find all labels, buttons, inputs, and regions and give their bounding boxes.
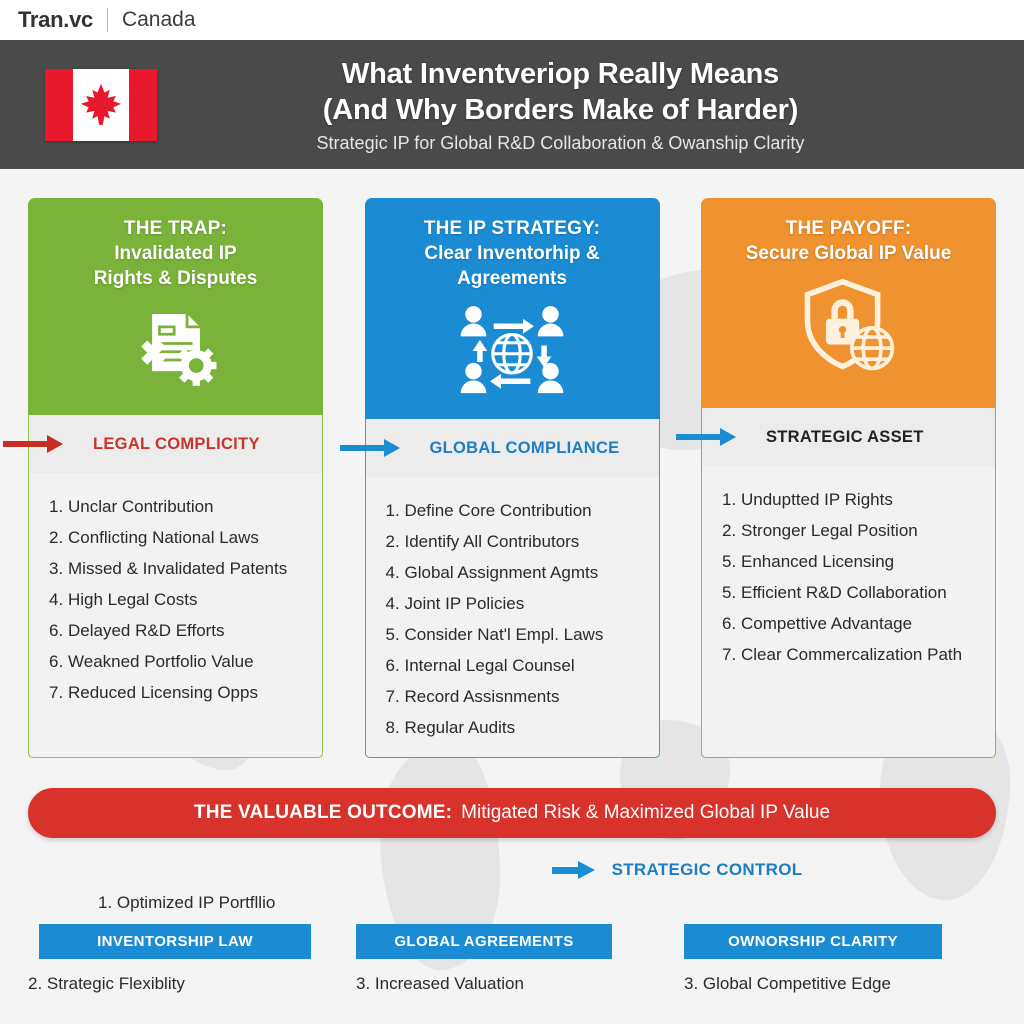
list-item: 6.Weakned Portfolio Value [49,646,310,677]
list-item-number: 2. [386,526,405,557]
card-subtitle-line2: Agreements [457,266,567,291]
list-item-number: 6. [49,646,68,677]
list-item-number: 1. [722,484,741,515]
list-item: 1.Unduptted IP Rights [722,484,983,515]
list-item-label: Clear Commercalization Path [741,645,962,664]
list-item: 1.Define Core Contribution [386,495,647,526]
list-item-label: High Legal Costs [68,590,197,609]
list-item: 7.Reduced Licensing Opps [49,677,310,708]
list-item-label: Define Core Contribution [405,501,592,520]
list-item-label: Conflicting National Laws [68,528,259,547]
card-eyebrow: THE TRAP: [124,216,227,241]
list-item-number: 3. [49,553,68,584]
list-item-label: Reduced Licensing Opps [68,683,258,702]
list-item-label: Compettive Advantage [741,614,912,633]
card-subtitle-line1: Invalidated IP [114,241,236,266]
list-item-number: 6. [386,650,405,681]
list-item-label: Unclar Contribution [68,497,214,516]
list-item: 8.Regular Audits [386,712,647,743]
list-item-number: 7. [722,639,741,670]
outcome-banner: THE VALUABLE OUTCOME: Mitigated Risk & M… [28,788,996,838]
list-item-label: Identify All Contributors [405,532,580,551]
right-arrow-icon [676,430,744,444]
bottom-bottom-item: 3. Increased Valuation [356,969,651,999]
list-item-label: Enhanced Licensing [741,552,894,571]
outcome-banner-rest: Mitigated Risk & Maximized Global IP Val… [461,802,830,824]
list-item-number: 1. [49,491,68,522]
card-header-payoff: THE PAYOFF: Secure Global IP Value [701,198,996,408]
arrow-row-ip-strategy: GLOBAL COMPLIANCE [366,419,659,477]
bottom-column-global-agreements: GLOBAL AGREEMENTS 3. Increased Valuation [356,888,651,999]
card-the-trap: THE TRAP: Invalidated IP Rights & Disput… [28,198,323,758]
list-item: 4.Joint IP Policies [386,588,647,619]
outcome-banner-strong: THE VALUABLE OUTCOME: [194,802,452,824]
card-body-trap: LEGAL COMPLICITY 1.Unclar Contribution 2… [28,415,323,758]
list-item-number: 5. [386,619,405,650]
list-item-number: 8. [386,712,405,743]
list-item-number: 1. [386,495,405,526]
document-error-gear-icon [130,303,222,395]
list-item-number: 7. [49,677,68,708]
list-item: 1.Unclar Contribution [49,491,310,522]
list-item: 3.Missed & Invalidated Patents [49,553,310,584]
brand-divider [107,8,108,32]
list-item-label: Unduptted IP Rights [741,490,893,509]
list-payoff: 1.Unduptted IP Rights 2.Stronger Legal P… [702,466,995,670]
bottom-column-inventorship-law: 1. Optimized IP Portfllio INVENTORSHIP L… [28,888,323,999]
card-eyebrow: THE PAYOFF: [786,216,912,241]
pill-inventorship-law[interactable]: INVENTORSHIP LAW [39,924,311,959]
card-subtitle-line1: Secure Global IP Value [746,241,952,266]
list-item: 2.Stronger Legal Position [722,515,983,546]
three-column-section: THE TRAP: Invalidated IP Rights & Disput… [0,169,1024,758]
card-body-payoff: STRATEGIC ASSET 1.Unduptted IP Rights 2.… [701,408,996,758]
list-item-label: Regular Audits [405,718,516,737]
page-header: What Inventveriop Really Means (And Why … [0,40,1024,169]
bottom-section: STRATEGIC CONTROL 1. Optimized IP Portfl… [0,860,1024,999]
list-item-number: 5. [722,577,741,608]
list-item: 4.Global Assignment Agmts [386,557,647,588]
list-item-label: Weakned Portfolio Value [68,652,254,671]
list-item: 7.Clear Commercalization Path [722,639,983,670]
list-item: 4.High Legal Costs [49,584,310,615]
bottom-top-spacer [684,888,979,918]
list-item-number: 2. [49,522,68,553]
list-item-label: Internal Legal Counsel [405,656,575,675]
list-item-label: Delayed R&D Efforts [68,621,225,640]
strategic-control-row: STRATEGIC CONTROL [28,860,996,880]
card-the-payoff: THE PAYOFF: Secure Global IP Value [701,198,996,758]
strategic-control-label: STRATEGIC CONTROL [612,860,803,880]
bottom-top-item: 1. Optimized IP Portfllio [28,888,323,918]
list-ip-strategy: 1.Define Core Contribution 2.Identify Al… [366,477,659,743]
arrow-label-trap: LEGAL COMPLICITY [93,435,260,454]
list-item-number: 4. [386,588,405,619]
global-collaboration-network-icon [457,303,567,399]
arrow-row-trap: LEGAL COMPLICITY [29,415,322,473]
list-item-number: 4. [49,584,68,615]
arrow-label-ip-strategy: GLOBAL COMPLIANCE [430,439,620,458]
list-item-label: Consider Nat'l Empl. Laws [405,625,604,644]
list-item: 6.Delayed R&D Efforts [49,615,310,646]
list-trap: 1.Unclar Contribution 2.Conflicting Nati… [29,473,322,708]
card-subtitle-line2: Rights & Disputes [94,266,258,291]
list-item-label: Stronger Legal Position [741,521,918,540]
card-body-ip-strategy: GLOBAL COMPLIANCE 1.Define Core Contribu… [365,419,660,758]
list-item-number: 7. [386,681,405,712]
page-title-line2: (And Why Borders Make of Harder) [157,92,964,128]
list-item: 6.Internal Legal Counsel [386,650,647,681]
list-item: 5.Efficient R&D Collaboration [722,577,983,608]
list-item-label: Global Assignment Agmts [405,563,599,582]
canada-flag-icon [45,69,157,141]
right-arrow-icon [3,437,71,451]
list-item: 5.Consider Nat'l Empl. Laws [386,619,647,650]
list-item-label: Missed & Invalidated Patents [68,559,287,578]
list-item-label: Record Assisnments [405,687,560,706]
pill-global-agreements[interactable]: GLOBAL AGREEMENTS [356,924,612,959]
brand-region: Canada [122,8,196,32]
infographic-page: Tran.vc Canada What Inventveriop Really … [0,0,1024,1024]
card-header-ip-strategy: THE IP STRATEGY: Clear Inventorhip & Agr… [365,198,660,419]
list-item-number: 4. [386,557,405,588]
brand-logo: Tran.vc [18,7,93,33]
list-item: 6.Compettive Advantage [722,608,983,639]
page-subtitle: Strategic IP for Global R&D Collaboratio… [157,133,964,154]
card-header-trap: THE TRAP: Invalidated IP Rights & Disput… [28,198,323,415]
arrow-row-payoff: STRATEGIC ASSET [702,408,995,466]
bottom-top-spacer [356,888,651,918]
list-item: 7.Record Assisnments [386,681,647,712]
page-title-line1: What Inventveriop Really Means [157,56,964,92]
right-arrow-icon [340,441,408,455]
bottom-column-ownership-clarity: OWNORSHIP CLARITY 3. Global Competitive … [684,888,979,999]
brand-bar: Tran.vc Canada [0,0,1024,40]
shield-lock-globe-icon [797,278,901,374]
list-item: 2.Identify All Contributors [386,526,647,557]
bottom-bottom-item: 2. Strategic Flexiblity [28,969,323,999]
list-item-number: 6. [49,615,68,646]
header-text-block: What Inventveriop Really Means (And Why … [157,56,1024,154]
list-item-label: Joint IP Policies [405,594,525,613]
card-subtitle-line1: Clear Inventorhip & [424,241,599,266]
arrow-label-payoff: STRATEGIC ASSET [766,428,924,447]
list-item-number: 5. [722,546,741,577]
bottom-bottom-item: 3. Global Competitive Edge [684,969,979,999]
list-item-label: Efficient R&D Collaboration [741,583,947,602]
pill-ownership-clarity[interactable]: OWNORSHIP CLARITY [684,924,942,959]
outcome-banner-wrap: THE VALUABLE OUTCOME: Mitigated Risk & M… [0,758,1024,838]
bottom-grid: 1. Optimized IP Portfllio INVENTORSHIP L… [28,888,996,999]
list-item-number: 6. [722,608,741,639]
right-arrow-icon [552,862,598,878]
list-item-number: 2. [722,515,741,546]
card-ip-strategy: THE IP STRATEGY: Clear Inventorhip & Agr… [365,198,660,758]
list-item: 2.Conflicting National Laws [49,522,310,553]
card-eyebrow: THE IP STRATEGY: [424,216,600,241]
list-item: 5.Enhanced Licensing [722,546,983,577]
